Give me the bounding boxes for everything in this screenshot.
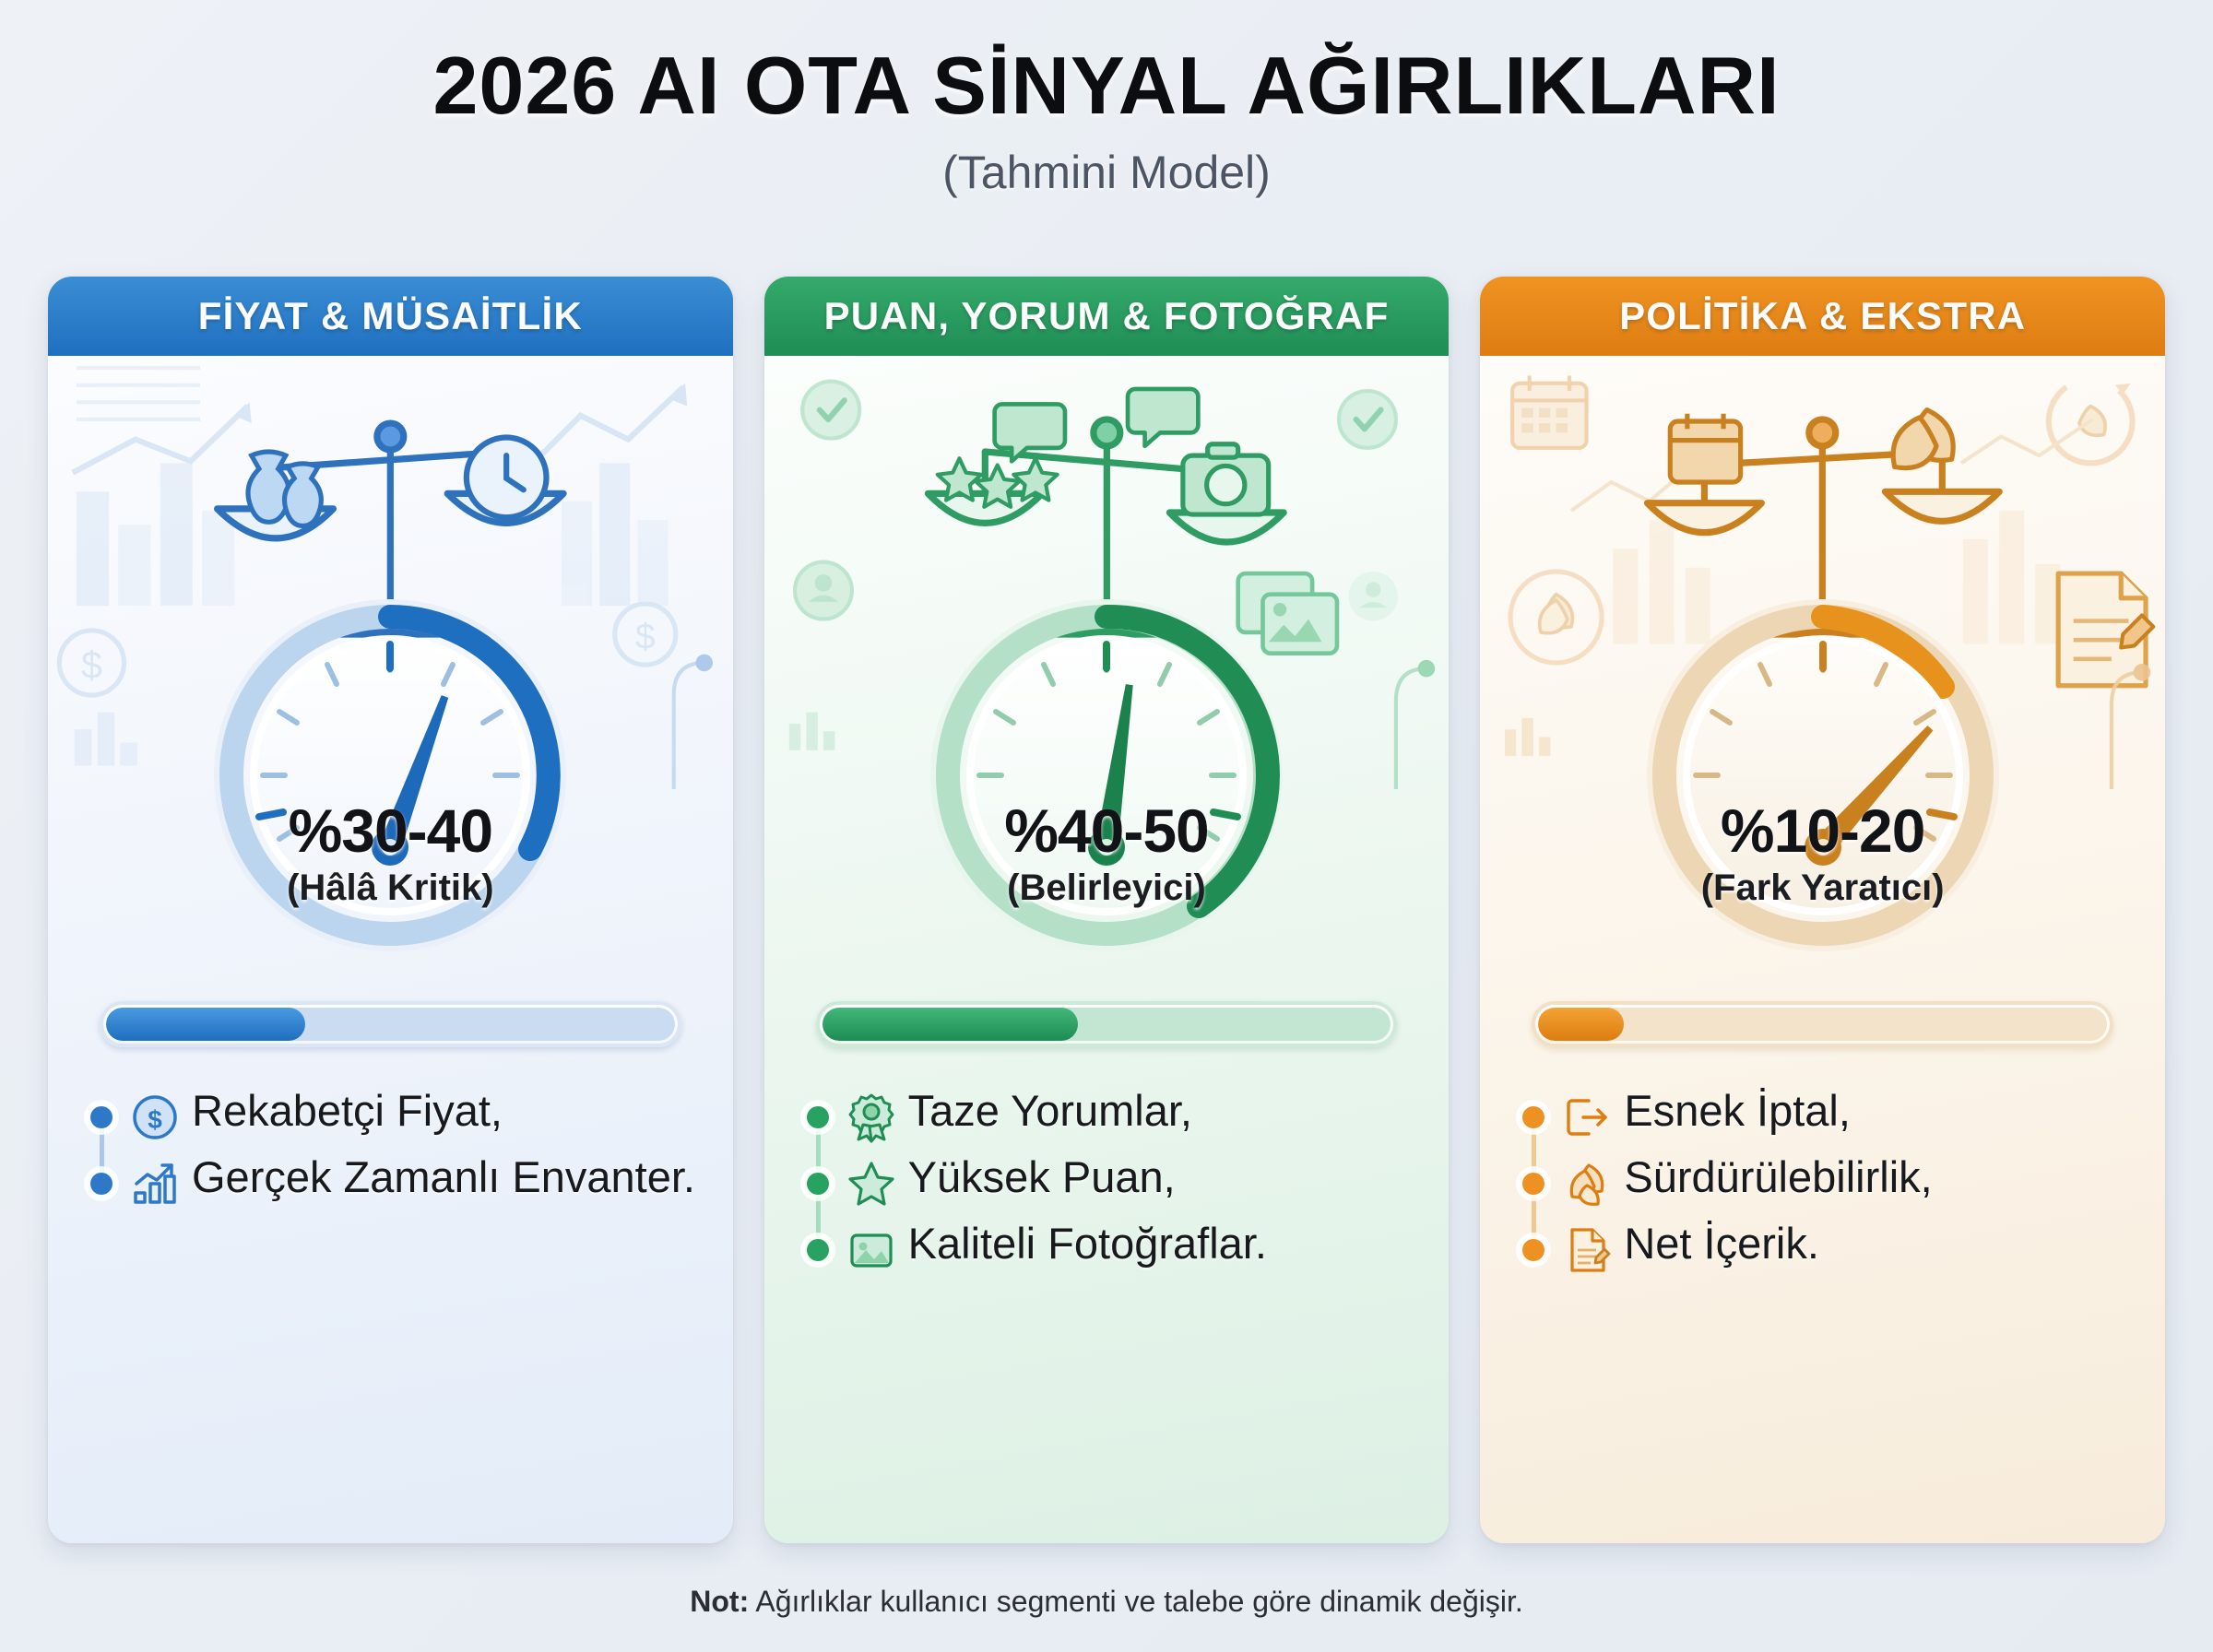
gauge-puan-yorum-fotograf: %40-50 (Belirleyici) <box>922 591 1291 960</box>
progress-track-2 <box>822 1008 1391 1041</box>
dollar-coin-icon: $ <box>129 1091 181 1143</box>
bullet-dot <box>807 1239 829 1261</box>
svg-text:$: $ <box>148 1105 162 1134</box>
list-item[interactable]: Esnek İptal, <box>1500 1084 2141 1143</box>
list-item[interactable]: Net İçerik. <box>1500 1217 2141 1276</box>
bar-chart-trend-icon <box>129 1158 181 1209</box>
list-item[interactable]: Yüksek Puan, <box>785 1150 1426 1209</box>
progress-bar-puan-yorum-fotograf <box>816 1001 1398 1047</box>
list-item-label: Net İçerik. <box>1624 1217 1819 1269</box>
progress-track-3 <box>1538 1008 2107 1041</box>
list-item[interactable]: Gerçek Zamanlı Envanter. <box>68 1150 709 1209</box>
footer-note-label: Not: <box>690 1585 749 1618</box>
bullet-list-puan-yorum-fotograf: Taze Yorumlar, Yüksek Puan, <box>785 1084 1426 1283</box>
list-item-label: Kaliteli Fotoğraflar. <box>908 1217 1267 1269</box>
leaf-sustainability-icon <box>1561 1158 1613 1209</box>
card-body-politika-ekstra: %10-20 (Fark Yaratıcı) <box>1480 356 2165 1543</box>
progress-bar-politika-ekstra <box>1532 1001 2113 1047</box>
list-item-label: Esnek İptal, <box>1624 1084 1851 1137</box>
award-ribbon-icon <box>846 1091 897 1143</box>
list-item-label: Rekabetçi Fiyat, <box>192 1084 503 1137</box>
card-header-fiyat-musaitlik: FİYAT & MÜSAİTLİK <box>48 277 733 356</box>
bullet-dot <box>807 1173 829 1195</box>
bullet-dot <box>807 1106 829 1128</box>
progress-track-1 <box>106 1008 675 1041</box>
card-body-fiyat-musaitlik: $ $ <box>48 356 733 1543</box>
card-header-puan-yorum-fotograf: PUAN, YORUM & FOTOĞRAF <box>764 277 1450 356</box>
exit-cancel-icon <box>1561 1091 1613 1143</box>
svg-text:$: $ <box>635 618 656 657</box>
page-subtitle: (Tahmini Model) <box>0 146 2213 199</box>
card-fiyat-musaitlik[interactable]: FİYAT & MÜSAİTLİK <box>48 277 733 1543</box>
bullet-dot <box>1522 1106 1544 1128</box>
footer-note: Not: Ağırlıklar kullanıcı segmenti ve ta… <box>0 1585 2213 1619</box>
list-item-label: Taze Yorumlar, <box>908 1084 1192 1137</box>
list-item[interactable]: Kaliteli Fotoğraflar. <box>785 1217 1426 1276</box>
bullet-dot <box>1522 1173 1544 1195</box>
bullet-dot <box>90 1106 112 1128</box>
card-header-politika-ekstra: POLİTİKA & EKSTRA <box>1480 277 2165 356</box>
page-header: 2026 AI OTA SİNYAL AĞIRLIKLARI (Tahmini … <box>0 0 2213 199</box>
bullet-list-fiyat-musaitlik: $ Rekabetçi Fiyat, Gerçek Zamanlı Envant… <box>68 1084 709 1217</box>
progress-fill-2 <box>822 1008 1079 1041</box>
document-edit-icon <box>1561 1224 1613 1276</box>
progress-fill-3 <box>1538 1008 1624 1041</box>
card-puan-yorum-fotograf[interactable]: PUAN, YORUM & FOTOĞRAF <box>764 277 1450 1543</box>
list-item-label: Yüksek Puan, <box>908 1150 1176 1203</box>
bullet-dot <box>90 1173 112 1195</box>
list-item[interactable]: $ Rekabetçi Fiyat, <box>68 1084 709 1143</box>
gauge-politika-ekstra: %10-20 (Fark Yaratıcı) <box>1639 591 2007 960</box>
cards-row: FİYAT & MÜSAİTLİK <box>48 277 2165 1543</box>
bullet-list-politika-ekstra: Esnek İptal, Sürdürülebilirlik, <box>1500 1084 2141 1283</box>
card-body-puan-yorum-fotograf: %40-50 (Belirleyici) <box>764 356 1450 1543</box>
photo-icon <box>846 1224 897 1276</box>
bullet-dot <box>1522 1239 1544 1261</box>
card-politika-ekstra[interactable]: POLİTİKA & EKSTRA <box>1480 277 2165 1543</box>
svg-text:$: $ <box>81 643 102 686</box>
footer-note-text: Ağırlıklar kullanıcı segmenti ve talebe … <box>749 1585 1523 1618</box>
gauge-fiyat-musaitlik: %30-40 (Hâlâ Kritik) <box>206 591 574 960</box>
page-title: 2026 AI OTA SİNYAL AĞIRLIKLARI <box>0 39 2213 133</box>
list-item[interactable]: Sürdürülebilirlik, <box>1500 1150 2141 1209</box>
progress-fill-1 <box>106 1008 305 1041</box>
list-item-label: Sürdürülebilirlik, <box>1624 1150 1932 1203</box>
list-item[interactable]: Taze Yorumlar, <box>785 1084 1426 1143</box>
star-icon <box>846 1158 897 1209</box>
list-item-label: Gerçek Zamanlı Envanter. <box>192 1150 695 1203</box>
progress-bar-fiyat-musaitlik <box>100 1001 681 1047</box>
